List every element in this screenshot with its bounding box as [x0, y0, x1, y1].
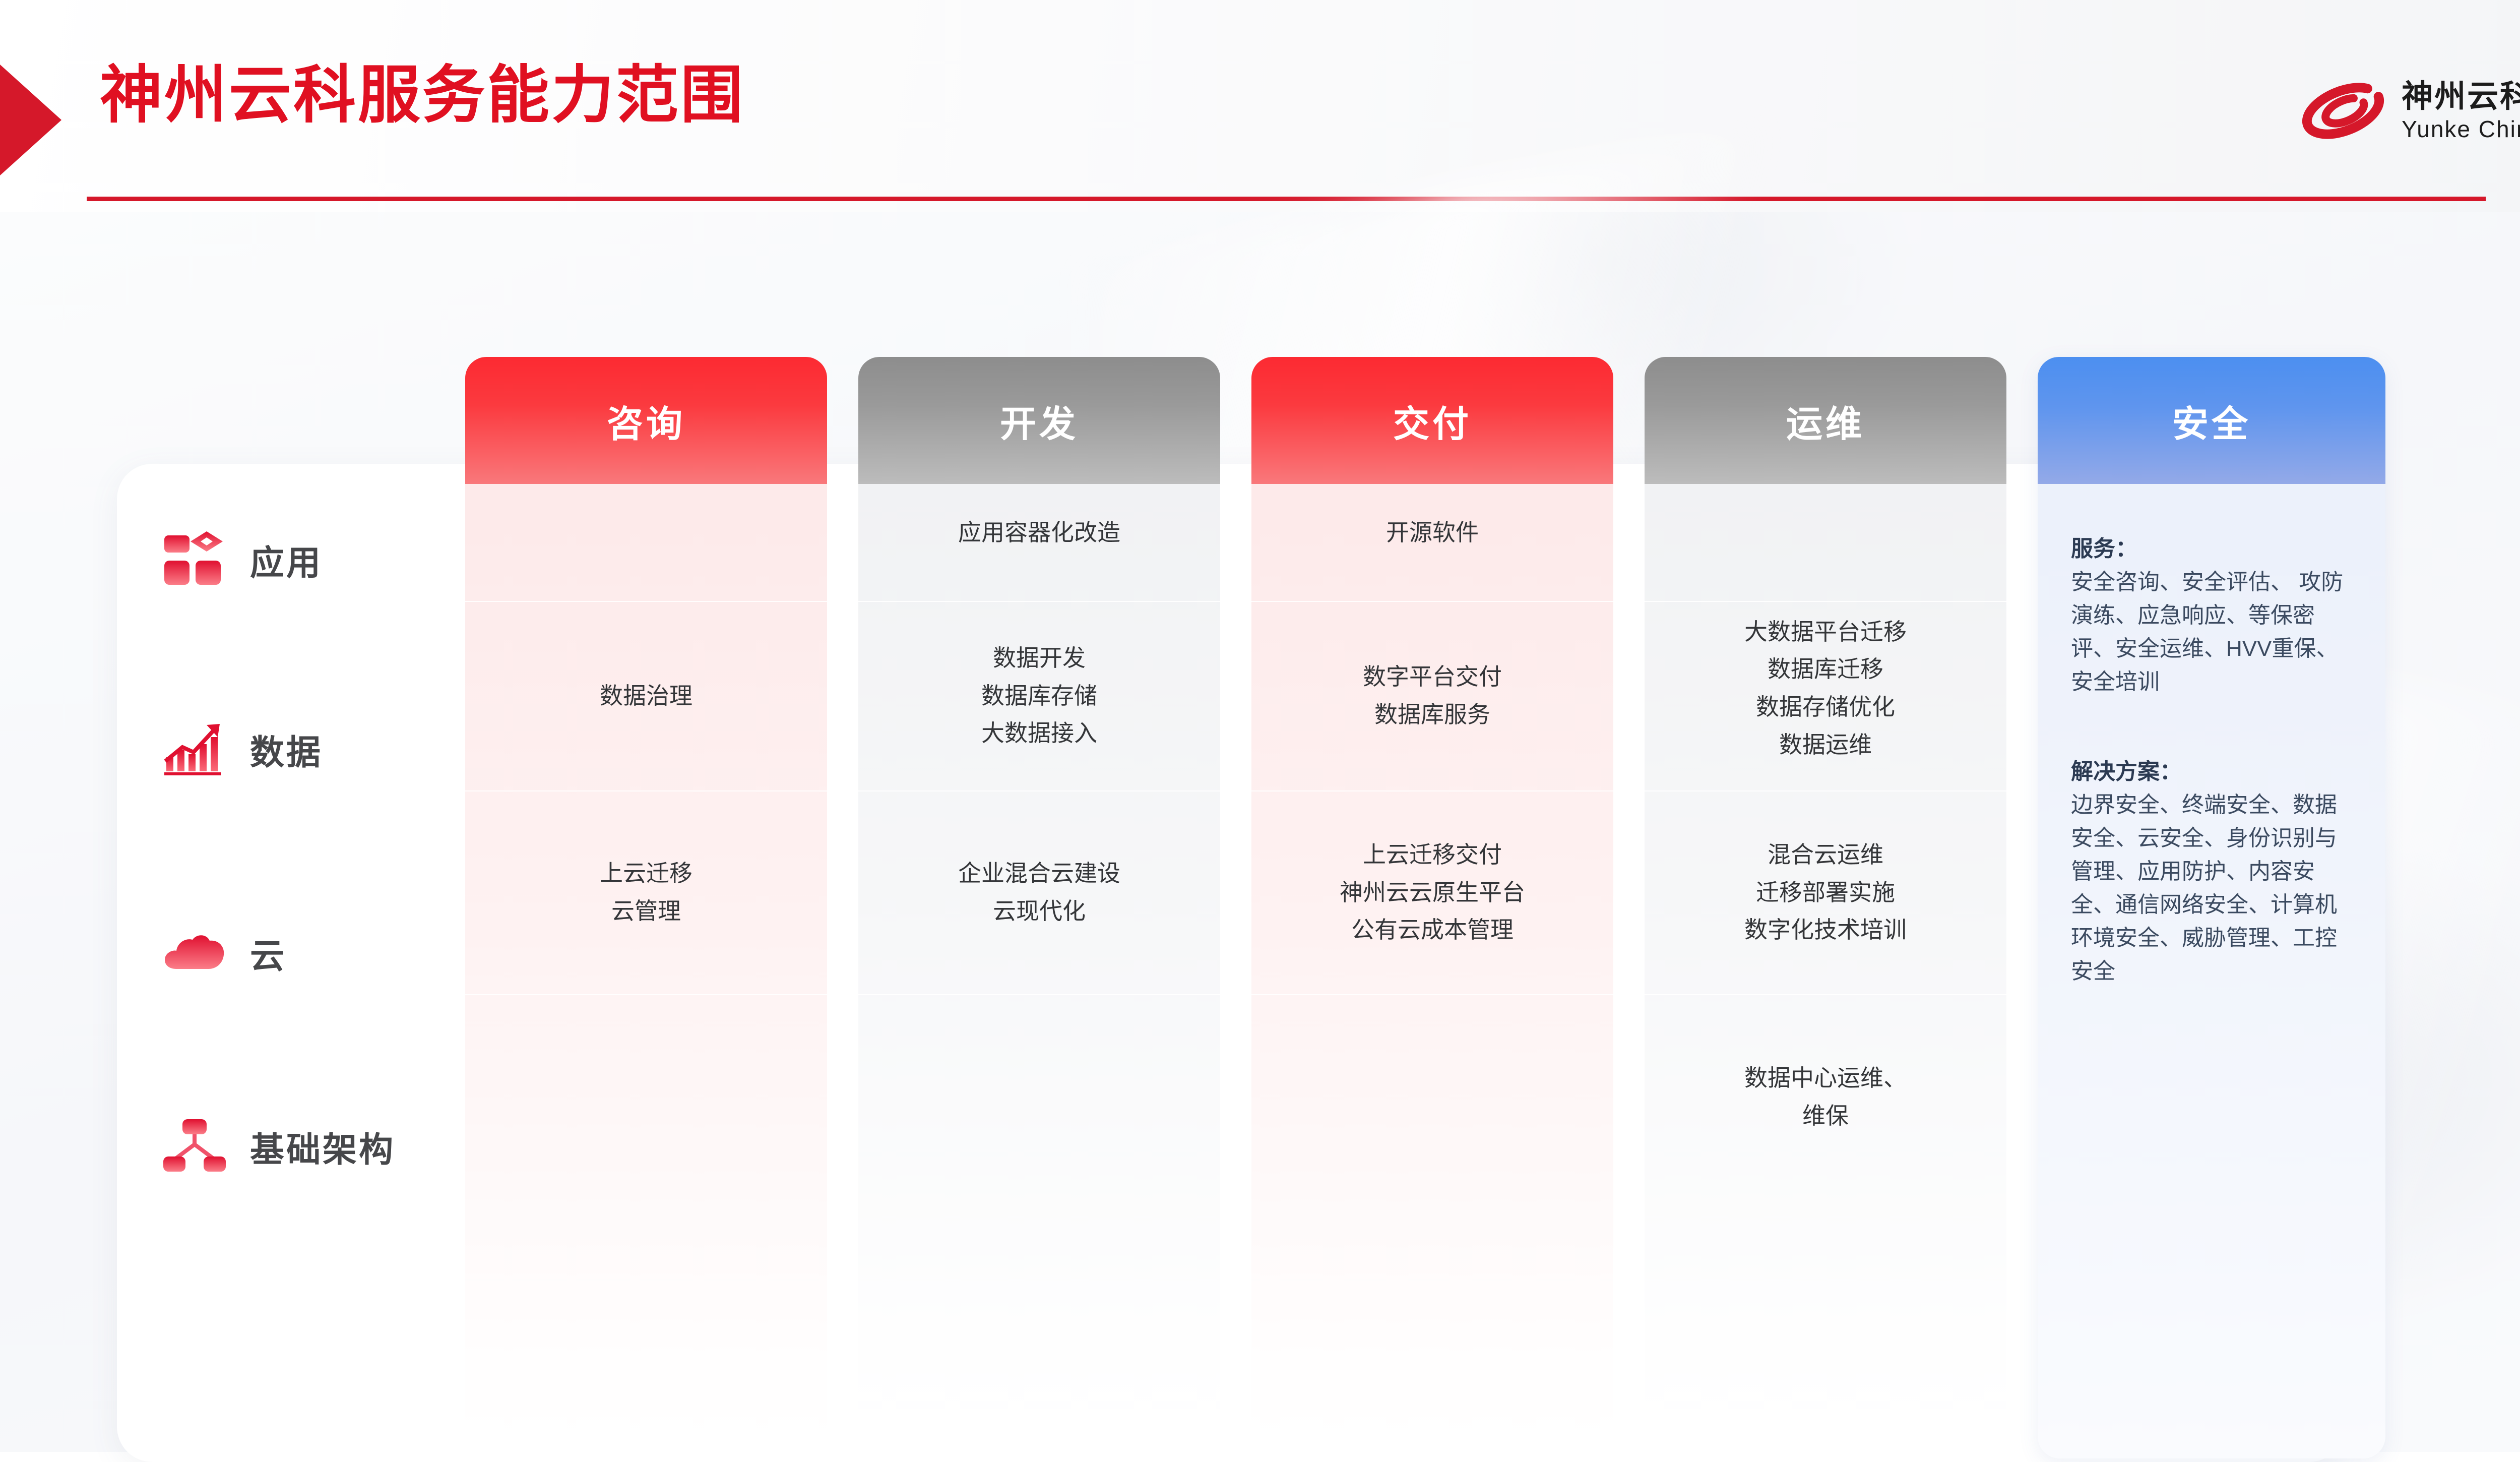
row-label-cloud: 云 — [162, 921, 286, 985]
bar-chart-growth-icon — [162, 717, 227, 781]
app-blocks-icon — [162, 527, 227, 592]
cell-item: 数据运维 — [1779, 726, 1872, 764]
network-nodes-icon — [162, 1114, 227, 1179]
row-label-data: 数据 — [162, 717, 323, 781]
cell-item: 大数据平台迁移 — [1744, 613, 1907, 651]
cell-item: 混合云运维 — [1768, 836, 1883, 874]
row-label-app-text: 应用 — [250, 535, 323, 585]
company-logo: 神州云科 Yunke China — [2298, 71, 2520, 151]
cell-item: 数据中心运维、 — [1744, 1059, 1907, 1097]
cell-data-consult: 数据治理 — [465, 601, 827, 790]
cell-data-deliver: 数字平台交付 数据库服务 — [1251, 601, 1613, 790]
cell-cloud-ops: 混合云运维 迁移部署实施 数字化技术培训 — [1645, 790, 2006, 994]
cell-infra-ops: 数据中心运维、 维保 — [1645, 994, 2006, 1200]
security-solution-text: 边界安全、终端安全、数据安全、云安全、身份识别与管理、应用防护、内容安全、通信网… — [2071, 788, 2352, 988]
cell-item: 上云迁移 — [600, 855, 692, 892]
logo-chinese-name: 神州云科 — [2402, 81, 2520, 112]
security-service-title: 服务： — [2071, 532, 2352, 566]
row-label-data-text: 数据 — [250, 724, 323, 774]
cell-cloud-develop: 企业混合云建设 云现代化 — [858, 790, 1220, 994]
cell-item: 开源软件 — [1386, 514, 1479, 552]
cell-item: 云现代化 — [993, 892, 1086, 930]
cell-cloud-consult: 上云迁移 云管理 — [465, 790, 827, 994]
cell-app-develop: 应用容器化改造 — [858, 464, 1220, 601]
security-solution-title: 解决方案： — [2071, 755, 2352, 788]
cell-data-ops: 大数据平台迁移 数据库迁移 数据存储优化 数据运维 — [1645, 586, 2006, 790]
column-header-consult[interactable]: 咨询 — [465, 357, 827, 484]
cell-item: 企业混合云建设 — [958, 855, 1120, 892]
cell-item: 数据库迁移 — [1768, 650, 1883, 688]
security-section-gap — [2071, 699, 2352, 755]
row-label-app: 应用 — [162, 527, 323, 592]
content-canvas: 咨询 开发 交付 运维 安全 服务： 安全咨询、安全评估、 攻防演练、应急响应、… — [0, 212, 2520, 1452]
cell-item: 维保 — [1802, 1097, 1849, 1135]
cell-cloud-deliver: 上云迁移交付 神州云云原生平台 公有云成本管理 — [1251, 790, 1613, 994]
cell-item: 迁移部署实施 — [1756, 874, 1895, 911]
column-header-ops[interactable]: 运维 — [1645, 357, 2006, 484]
cell-item: 公有云成本管理 — [1351, 911, 1514, 949]
cell-item: 数字平台交付 — [1363, 658, 1502, 696]
row-label-infra-text: 基础架构 — [250, 1122, 395, 1172]
cell-item: 上云迁移交付 — [1363, 836, 1502, 874]
cell-item: 数据库服务 — [1374, 696, 1490, 734]
row-label-infra: 基础架构 — [162, 1114, 395, 1179]
page-header: 神州云科服务能力范围 神州云科 Yunke China — [0, 0, 2520, 212]
red-arrow-marker-icon — [0, 65, 61, 175]
cell-item: 应用容器化改造 — [958, 514, 1120, 552]
cell-item: 云管理 — [611, 892, 681, 930]
cell-data-develop: 数据开发 数据库存储 大数据接入 — [858, 601, 1220, 790]
spiral-swirl-logo-icon — [2298, 71, 2388, 151]
matrix-panel — [117, 464, 2345, 1462]
column-header-security[interactable]: 安全 — [2038, 357, 2385, 484]
title-divider — [87, 197, 2486, 201]
cell-item: 数据库存储 — [981, 677, 1097, 715]
cell-item: 神州云云原生平台 — [1340, 874, 1525, 911]
cell-item: 数据开发 — [993, 639, 1086, 677]
security-column-body: 服务： 安全咨询、安全评估、 攻防演练、应急响应、等保密评、安全运维、HVV重保… — [2038, 484, 2385, 988]
logo-wordmark: 神州云科 Yunke China — [2402, 81, 2520, 141]
cloud-icon — [162, 921, 227, 985]
cell-item: 数据治理 — [600, 677, 692, 715]
security-service-text: 安全咨询、安全评估、 攻防演练、应急响应、等保密评、安全运维、HVV重保、安全培… — [2071, 566, 2352, 699]
logo-english-name: Yunke China — [2402, 117, 2520, 141]
cell-item: 数字化技术培训 — [1744, 911, 1907, 949]
cell-item: 大数据接入 — [981, 714, 1097, 752]
cell-app-deliver: 开源软件 — [1251, 464, 1613, 601]
cell-item: 数据存储优化 — [1756, 688, 1895, 726]
page-title: 神州云科服务能力范围 — [100, 63, 745, 128]
security-column-card[interactable]: 安全 服务： 安全咨询、安全评估、 攻防演练、应急响应、等保密评、安全运维、HV… — [2038, 357, 2385, 1458]
row-label-cloud-text: 云 — [250, 928, 286, 978]
